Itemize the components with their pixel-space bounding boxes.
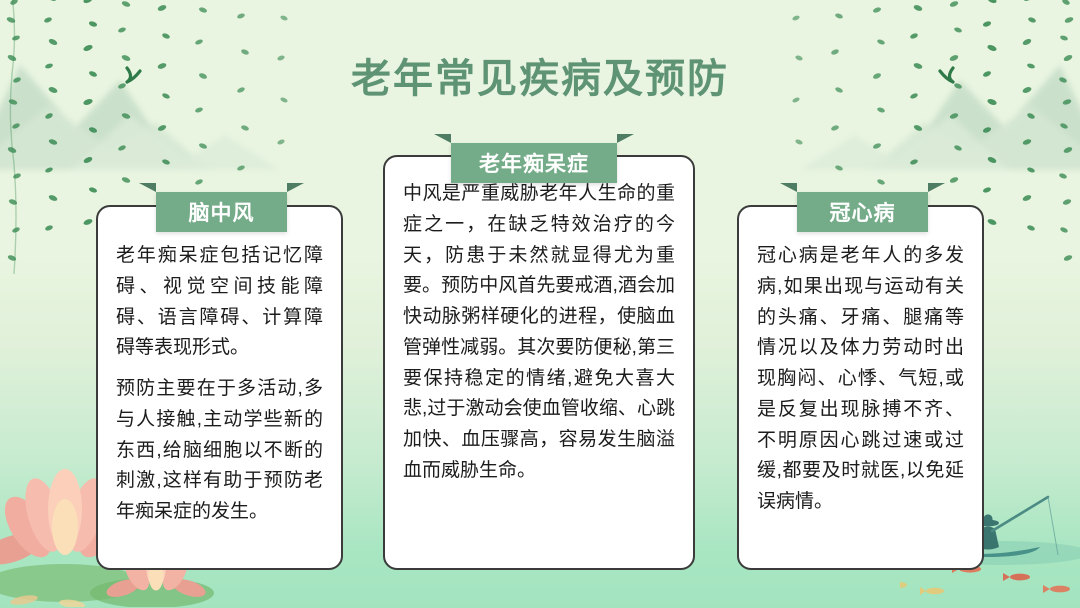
card-heading-label: 脑中风 <box>189 197 255 227</box>
card-body-dementia: 中风是严重威胁老年人生命的重症之一，在缺乏特效治疗的今天，防患于未然就显得尤为重… <box>385 157 693 501</box>
card-heading-coronary: 冠心病 <box>797 192 928 232</box>
disease-card-coronary: 冠心病是老年人的多发病,如果出现与运动有关的头痛、牙痛、腿痛等情况以及体力劳动时… <box>737 205 984 570</box>
card-body-coronary: 冠心病是老年人的多发病,如果出现与运动有关的头痛、牙痛、腿痛等情况以及体力劳动时… <box>739 207 982 532</box>
card-heading-label: 冠心病 <box>830 197 896 227</box>
card-body-stroke: 老年痴呆症包括记忆障碍、视觉空间技能障碍、语言障碍、计算障碍等表现形式。 预防主… <box>98 207 341 542</box>
card-paragraph: 中风是严重威胁老年人生命的重症之一，在缺乏特效治疗的今天，防患于未然就显得尤为重… <box>403 179 675 487</box>
card-paragraph: 预防主要在于多活动,多与人接触,主动学些新的东西,给脑细胞以不断的刺激,这样有助… <box>116 374 323 528</box>
disease-card-stroke: 老年痴呆症包括记忆障碍、视觉空间技能障碍、语言障碍、计算障碍等表现形式。 预防主… <box>96 205 343 570</box>
card-heading-dementia: 老年痴呆症 <box>451 143 617 183</box>
card-paragraph: 冠心病是老年人的多发病,如果出现与运动有关的头痛、牙痛、腿痛等情况以及体力劳动时… <box>757 241 964 518</box>
card-paragraph: 老年痴呆症包括记忆障碍、视觉空间技能障碍、语言障碍、计算障碍等表现形式。 <box>116 241 323 364</box>
page-title: 老年常见疾病及预防 <box>0 46 1080 104</box>
disease-card-dementia: 中风是严重威胁老年人生命的重症之一，在缺乏特效治疗的今天，防患于未然就显得尤为重… <box>383 155 695 570</box>
card-heading-stroke: 脑中风 <box>156 192 287 232</box>
card-heading-label: 老年痴呆症 <box>479 148 589 178</box>
